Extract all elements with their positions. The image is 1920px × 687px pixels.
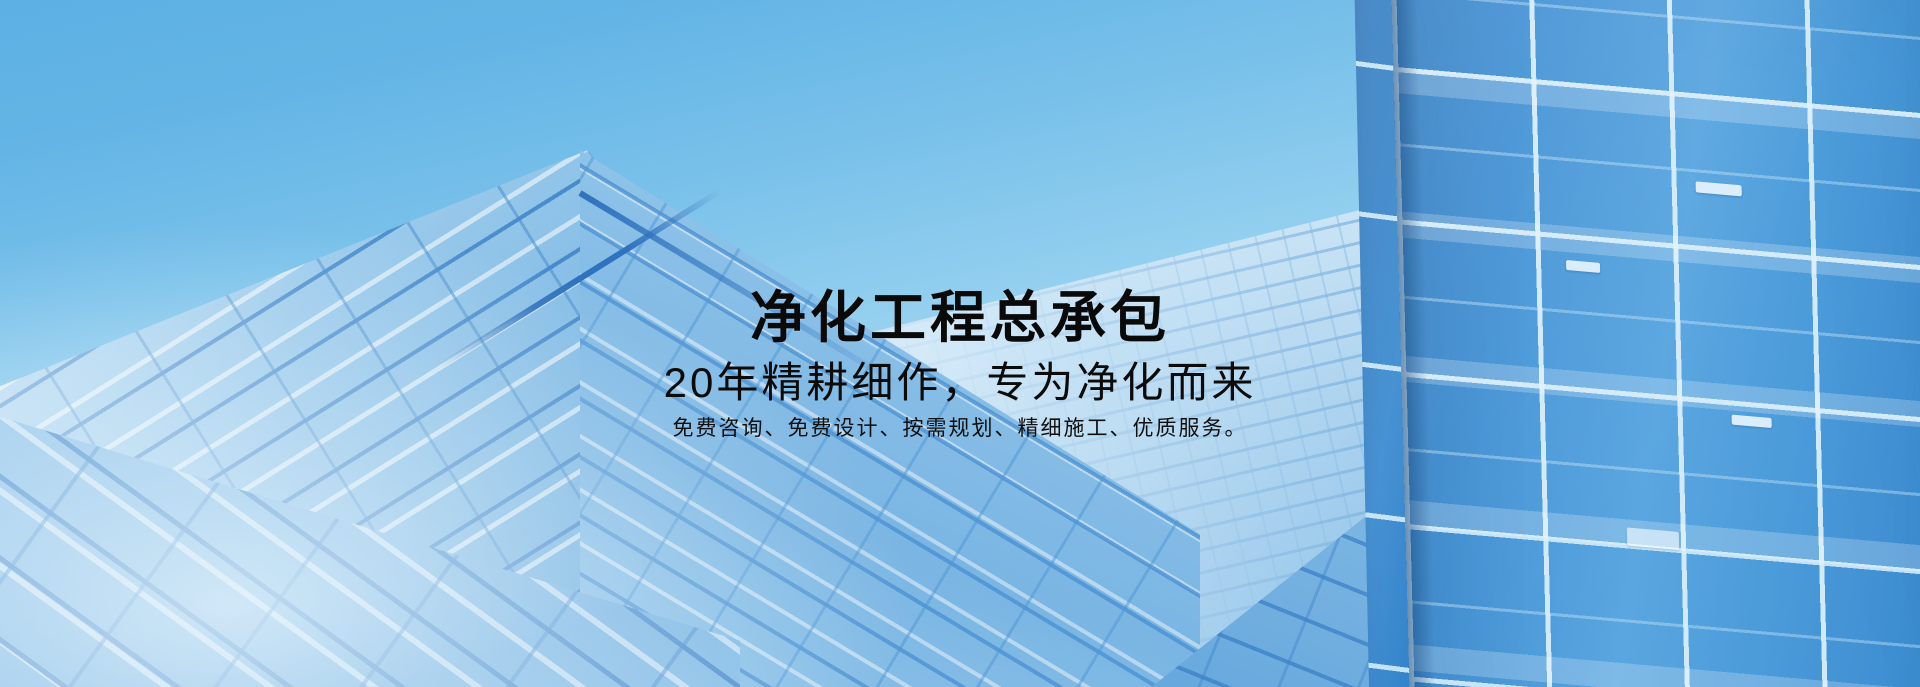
curtain-wall-mullions: [580, 150, 1200, 687]
building-right-tower: [1389, 0, 1920, 687]
glass-reflection: [1389, 0, 1920, 687]
wedge-right-facade: [580, 150, 1200, 687]
hero-banner: 净化工程总承包 20年精耕细作，专为净化而来 免费咨询、免费设计、按需规划、精细…: [0, 0, 1920, 687]
